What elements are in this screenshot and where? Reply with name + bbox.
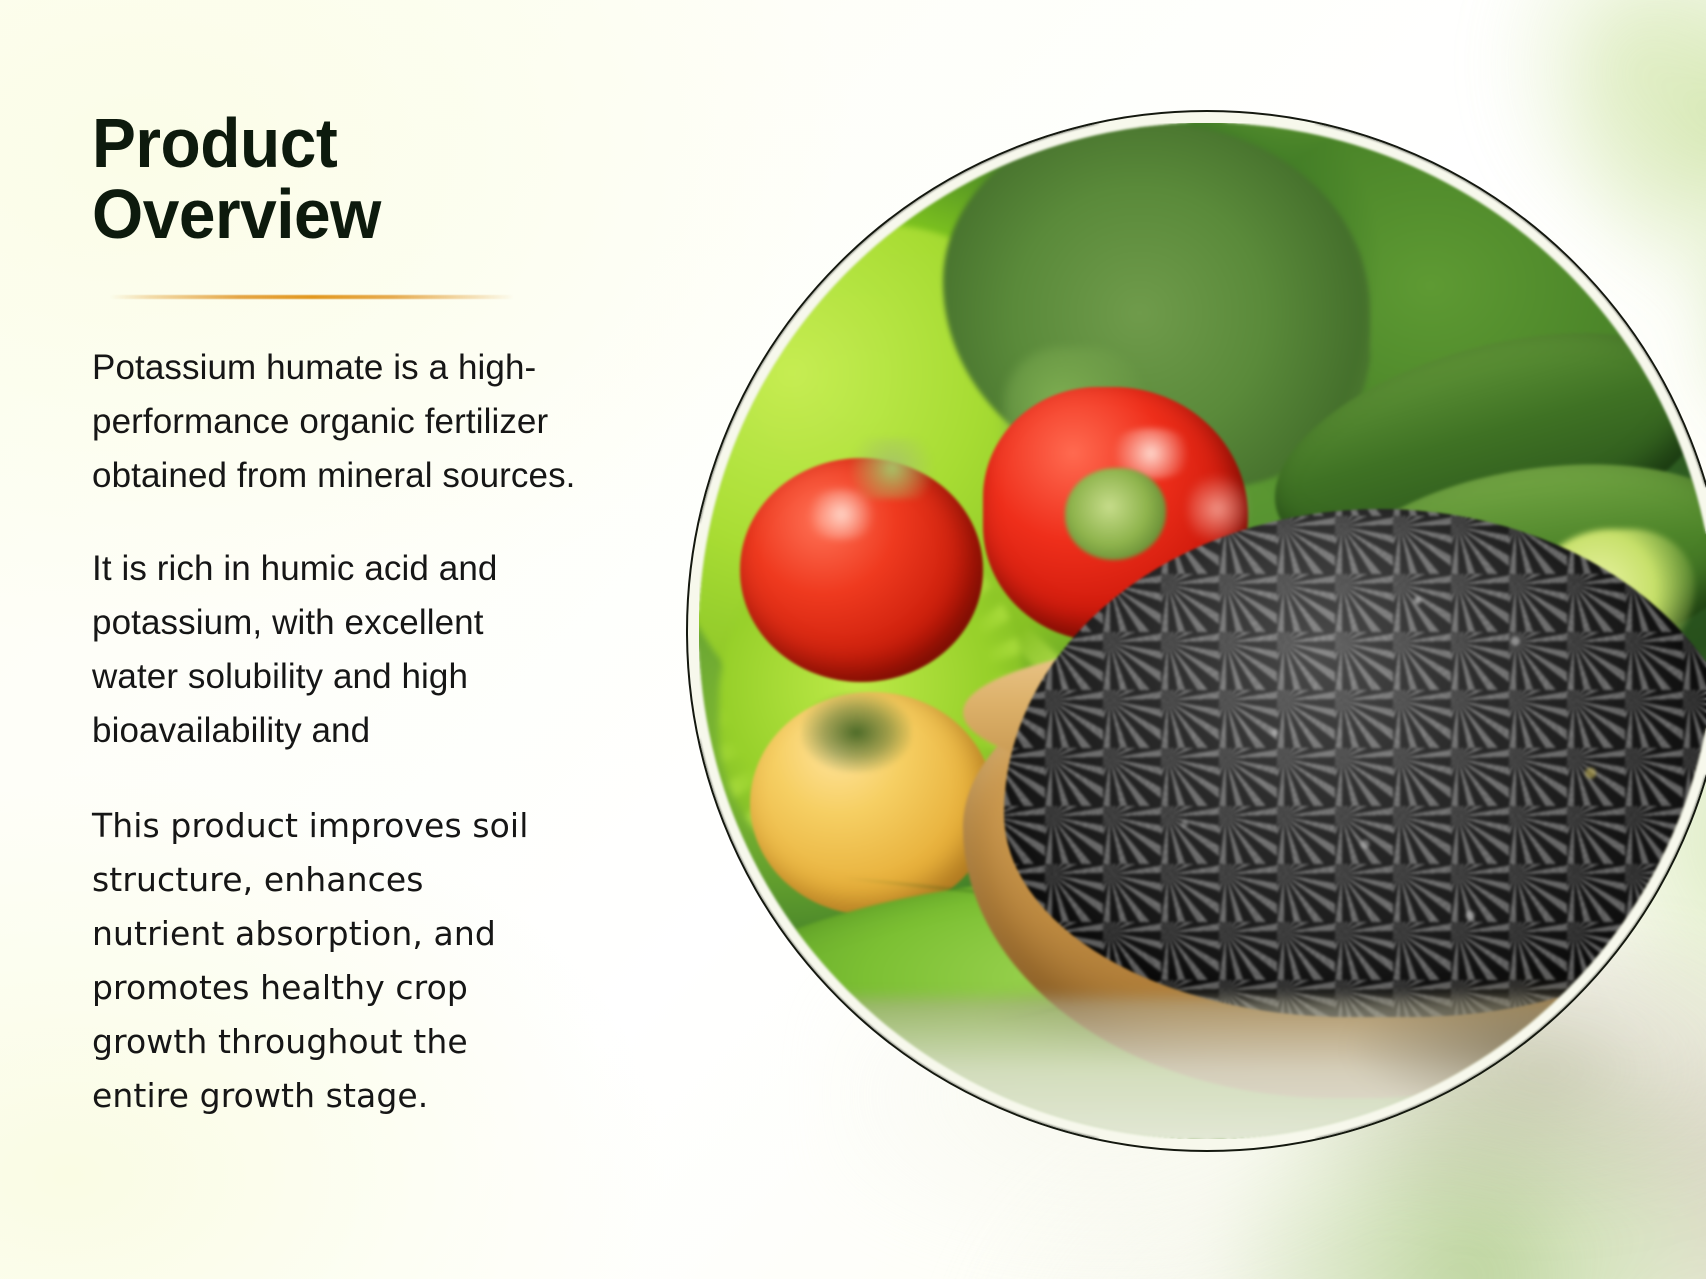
- page-title: Product Overview: [92, 108, 618, 251]
- red-tomato-stem-icon: [841, 438, 943, 499]
- yellow-tomato-stem-icon: [801, 692, 913, 773]
- vegetable-scene: [699, 123, 1706, 1139]
- product-photo-image: [699, 123, 1706, 1139]
- humate-granules-icon: [1004, 509, 1706, 1017]
- paragraph-composition: It is rich in humic acid and potassium, …: [92, 542, 552, 759]
- slide-root: Product Overview Potassium humate is a h…: [0, 0, 1706, 1279]
- title-divider: [110, 295, 514, 299]
- paragraph-benefits: This product improves soil structure, en…: [92, 799, 532, 1124]
- ground-shadow-icon: [1349, 976, 1706, 1118]
- humate-granule-speckles: [1004, 509, 1706, 1017]
- text-column: Product Overview Potassium humate is a h…: [92, 108, 652, 1123]
- product-photo-circle: [686, 110, 1706, 1152]
- paragraph-definition: Potassium humate is a high-performance o…: [92, 341, 620, 504]
